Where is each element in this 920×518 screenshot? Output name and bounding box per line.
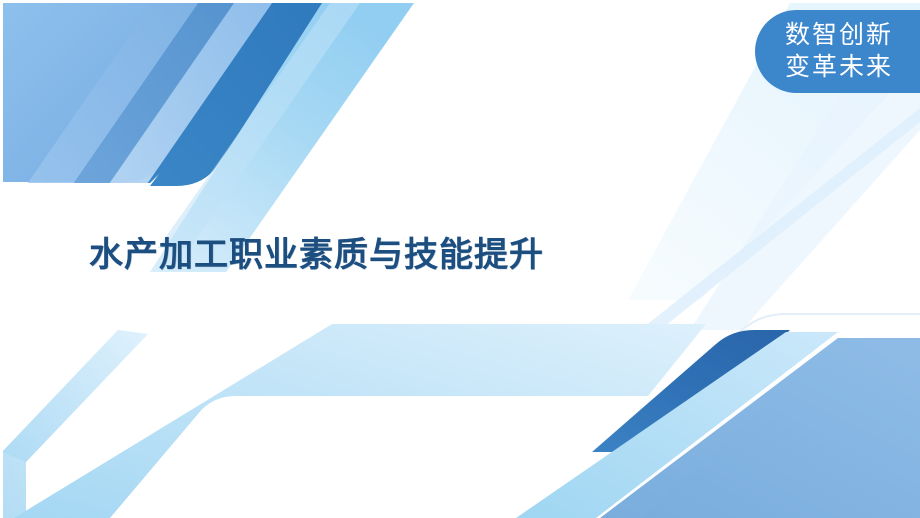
deep-blue-parallelogram — [592, 330, 790, 452]
title-slide: 数智创新 变革未来 水产加工职业素质与技能提升 — [0, 0, 920, 518]
badge-line-1: 数智创新 — [785, 19, 920, 51]
panel-stripe-dark-extend — [150, 3, 330, 186]
top-cyan-band-inner — [158, 3, 360, 248]
top-edge-highlight — [0, 0, 920, 3]
bottom-left-chevron-left — [2, 330, 108, 518]
corner-badge: 数智创新 变革未来 — [755, 10, 920, 93]
bottom-left-strip-1b — [2, 330, 148, 462]
bottom-right-triangles — [516, 332, 920, 518]
top-left-panel-group — [3, 0, 332, 200]
bottom-right-cyan-band — [516, 332, 838, 518]
bottom-left-chevrons — [2, 322, 706, 518]
top-right-hairline — [640, 108, 920, 330]
bottom-center-wedge — [14, 324, 706, 518]
slide-title: 水产加工职业素质与技能提升 — [89, 232, 789, 278]
panel-stripe-2 — [62, 0, 250, 200]
bottom-right-deep-shape — [592, 314, 920, 452]
top-right-faint-band-2 — [690, 60, 920, 330]
bottom-right-blue-triangle-cap — [640, 338, 920, 518]
panel-stripe-1 — [16, 0, 262, 200]
badge-line-2: 变革未来 — [785, 51, 920, 83]
panel-stripe-4 — [136, 0, 332, 200]
bottom-right-blue-triangle — [600, 338, 920, 518]
deep-blue-outline — [596, 314, 920, 452]
bottom-left-strip-1 — [2, 330, 148, 518]
top-left-panel — [3, 3, 300, 182]
left-edge-highlight — [0, 0, 3, 518]
panel-stripe-3 — [98, 0, 292, 200]
